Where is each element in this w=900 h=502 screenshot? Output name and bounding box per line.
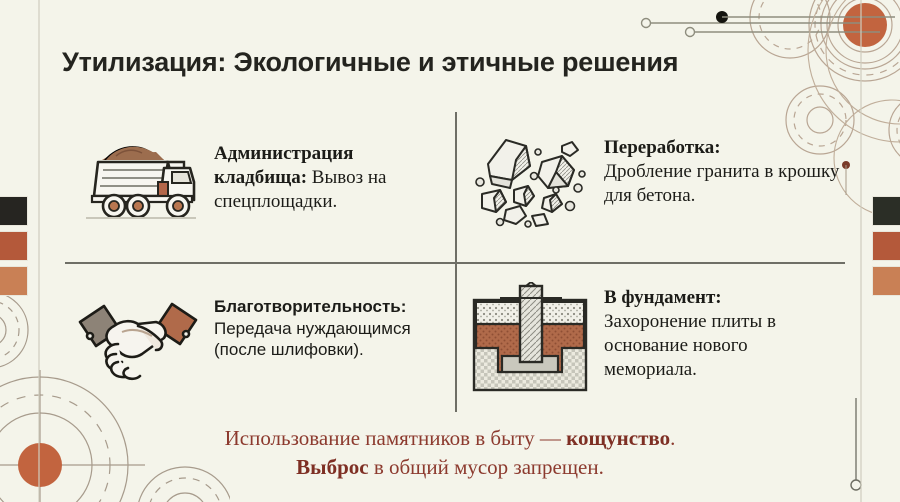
swatch-tan (872, 266, 900, 296)
swatch-rust (0, 231, 28, 261)
quadrant-foundation-lead: В фундамент: (604, 286, 842, 310)
quadrant-recycling-text: Переработка: Дробление гранита в крошку … (604, 132, 842, 208)
handshake-icon (76, 292, 200, 387)
quadrant-administration-text: Администрация кладбища: Вывоз на спецпло… (214, 138, 444, 214)
grid-divider-vertical (455, 112, 457, 412)
color-swatch-bar-left (0, 196, 28, 296)
line-endpoint-filled (716, 11, 728, 23)
quadrant-charity-lead: Благотворительность: (214, 296, 448, 318)
quadrant-foundation: В фундамент: Захоронение плиты в основан… (470, 282, 842, 399)
swatch-tan (0, 266, 28, 296)
footer-line1-c: . (670, 426, 675, 450)
line-endpoint-hollow (686, 28, 695, 37)
dump-truck-icon (72, 138, 200, 229)
crushed-granite-rocks-icon (470, 132, 590, 235)
quadrant-charity-body: Передача нуждающимся (после шлифовки). (214, 318, 448, 361)
swatch-dark (872, 196, 900, 226)
footer-line2-b: в общий мусор запрещен. (369, 455, 604, 479)
quadrant-administration: Администрация кладбища: Вывоз на спецпло… (72, 138, 444, 229)
line-endpoint-hollow (642, 19, 651, 28)
quadrant-foundation-text: В фундамент: Захоронение плиты в основан… (604, 282, 842, 383)
footer-line-1: Использование памятников в быту — кощунс… (0, 424, 900, 453)
gear-hub-dot (843, 3, 887, 47)
quadrant-recycling-lead: Переработка: (604, 136, 842, 160)
quadrant-recycling: Переработка: Дробление гранита в крошку … (470, 132, 842, 235)
swatch-dark (0, 196, 28, 226)
swatch-rust (872, 231, 900, 261)
footer-line1-a: Использование памятников в быту — (225, 426, 567, 450)
page-title: Утилизация: Экологичные и этичные решени… (62, 47, 678, 78)
footer-warning: Использование памятников в быту — кощунс… (0, 424, 900, 482)
slide-root: Утилизация: Экологичные и этичные решени… (0, 0, 900, 502)
color-swatch-bar-right (872, 196, 900, 296)
footer-line2-emphasis: Выброс (296, 455, 368, 479)
foundation-cross-section-icon (470, 282, 590, 399)
quadrant-charity-text: Благотворительность: Передача нуждающимс… (214, 292, 448, 361)
footer-line-2: Выброс в общий мусор запрещен. (0, 453, 900, 482)
quadrant-foundation-body: Захоронение плиты в основание нового мем… (604, 310, 842, 382)
footer-line1-emphasis: кощунство (566, 426, 670, 450)
dot-marker (842, 161, 850, 169)
quadrant-recycling-body: Дробление гранита в крошку для бетона. (604, 160, 842, 208)
quadrant-charity: Благотворительность: Передача нуждающимс… (76, 292, 448, 387)
